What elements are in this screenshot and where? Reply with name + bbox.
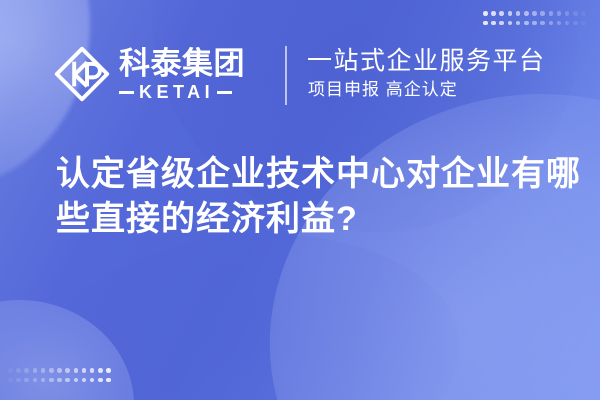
dot	[16, 378, 21, 383]
dot	[508, 21, 513, 26]
dot-row	[483, 11, 586, 16]
dot-row	[8, 378, 111, 383]
dot	[57, 378, 62, 383]
dot	[24, 368, 29, 373]
headline-line-2: 些直接的经济利益?	[56, 197, 568, 242]
dot	[524, 11, 529, 16]
banner-header: 科泰集团 KETAI 一站式企业服务平台 项目申报 高企认定	[0, 38, 600, 110]
dot	[82, 368, 87, 373]
dot	[565, 11, 570, 16]
brand-name-latin-row: KETAI	[119, 83, 245, 102]
dot	[516, 21, 521, 26]
dot	[106, 368, 111, 373]
dot	[49, 378, 54, 383]
dot	[8, 368, 13, 373]
dot	[516, 11, 521, 16]
dot-grid-bottom-left	[8, 368, 111, 382]
headline-line-1: 认定省级企业技术中心对企业有哪	[56, 152, 568, 197]
dot	[90, 378, 95, 383]
dot	[549, 11, 554, 16]
dot	[499, 11, 504, 16]
dot	[98, 378, 103, 383]
dot	[573, 21, 578, 26]
brand-name-latin: KETAI	[139, 83, 214, 102]
decorative-blob-bottom-left	[0, 300, 134, 400]
dot	[16, 368, 21, 373]
dot-row	[8, 368, 111, 373]
dot	[98, 368, 103, 373]
dot	[24, 378, 29, 383]
promo-banner: 科泰集团 KETAI 一站式企业服务平台 项目申报 高企认定 认定省级企业技术中…	[0, 0, 600, 400]
dot	[573, 11, 578, 16]
brand-logo-wordmark: 科泰集团 KETAI	[119, 47, 245, 102]
dot	[65, 378, 70, 383]
dot	[90, 368, 95, 373]
dot	[549, 21, 554, 26]
dot	[565, 21, 570, 26]
dot	[499, 21, 504, 26]
dot	[581, 21, 586, 26]
dot	[483, 21, 488, 26]
logo-rule-left	[119, 91, 134, 94]
tagline-main: 一站式企业服务平台	[307, 47, 546, 76]
dot	[49, 368, 54, 373]
logo-rule-right	[217, 91, 232, 94]
dot-grid-top-right	[483, 11, 586, 25]
headline: 认定省级企业技术中心对企业有哪 些直接的经济利益?	[56, 152, 568, 242]
dot	[33, 378, 38, 383]
dot	[491, 11, 496, 16]
dot	[41, 368, 46, 373]
header-divider	[285, 46, 287, 105]
dot	[532, 11, 537, 16]
dot	[557, 21, 562, 26]
dot	[74, 368, 79, 373]
decorative-blob-lower-middle	[18, 214, 472, 400]
dot	[8, 378, 13, 383]
dot-row	[483, 21, 586, 26]
brand-logo[interactable]: 科泰集团 KETAI	[54, 46, 245, 102]
dot	[491, 21, 496, 26]
dot	[65, 368, 70, 373]
dot	[557, 11, 562, 16]
dot	[524, 21, 529, 26]
dot	[581, 11, 586, 16]
dot	[33, 368, 38, 373]
tagline-sub: 项目申报 高企认定	[308, 79, 546, 101]
ketai-diamond-kp-logo-icon	[54, 46, 110, 102]
dot	[74, 378, 79, 383]
dot	[540, 21, 545, 26]
dot	[41, 378, 46, 383]
dot	[82, 378, 87, 383]
header-tagline: 一站式企业服务平台 项目申报 高企认定	[307, 38, 546, 110]
dot	[532, 21, 537, 26]
dot	[483, 11, 488, 16]
dot	[540, 11, 545, 16]
dot	[508, 11, 513, 16]
dot	[57, 368, 62, 373]
dot	[106, 378, 111, 383]
brand-name-cn: 科泰集团	[119, 47, 245, 81]
